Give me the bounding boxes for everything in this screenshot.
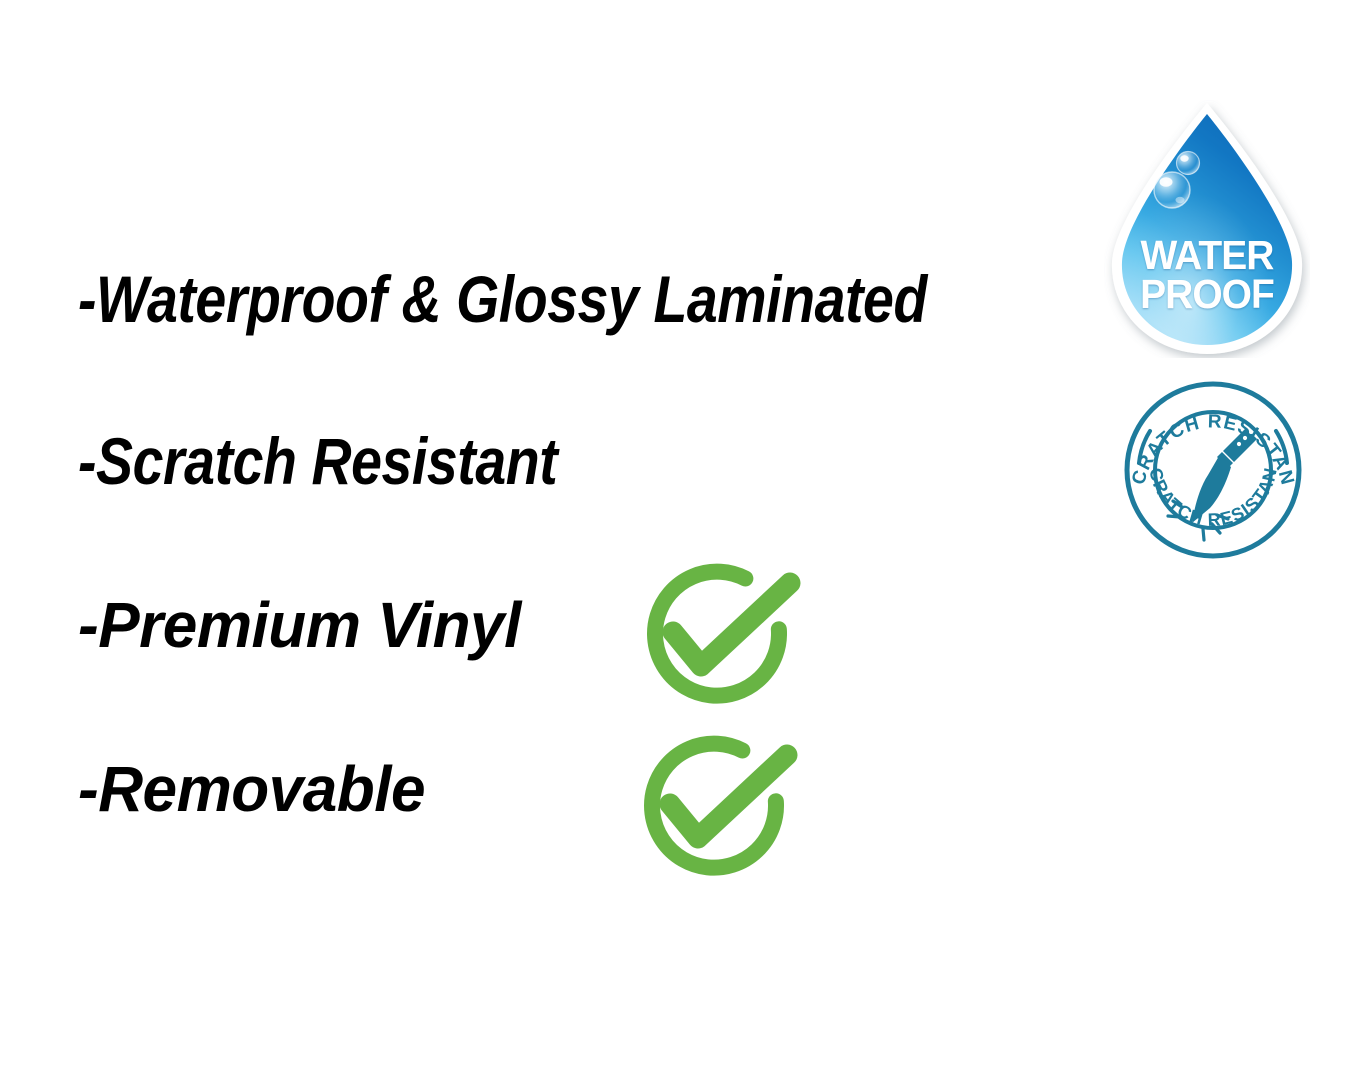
feature-item-removable: -Removable xyxy=(78,757,425,821)
water-drop-icon xyxy=(1104,100,1310,358)
feature-graphic-canvas: -Waterproof & Glossy Laminated -Scratch … xyxy=(0,0,1359,1080)
bubble-small-icon xyxy=(1177,152,1200,175)
feature-item-scratch-resistant: -Scratch Resistant xyxy=(78,428,557,494)
circle-check-icon xyxy=(624,726,814,886)
scratch-resistant-badge: SCRATCH RESISTANT SCRATCH RESISTANT xyxy=(1118,381,1308,559)
feature-item-premium-vinyl: -Premium Vinyl xyxy=(78,593,521,657)
checkmark-premium-vinyl xyxy=(627,554,817,714)
circle-check-icon xyxy=(627,554,817,714)
knife-stamp-icon: SCRATCH RESISTANT SCRATCH RESISTANT xyxy=(1118,381,1308,559)
bubble-large-icon xyxy=(1154,172,1190,208)
checkmark-removable xyxy=(624,726,814,886)
feature-list: -Waterproof & Glossy Laminated -Scratch … xyxy=(0,0,1100,1080)
feature-item-waterproof-glossy-laminated: -Waterproof & Glossy Laminated xyxy=(78,266,927,332)
waterproof-badge: WATER PROOF xyxy=(1104,100,1310,358)
